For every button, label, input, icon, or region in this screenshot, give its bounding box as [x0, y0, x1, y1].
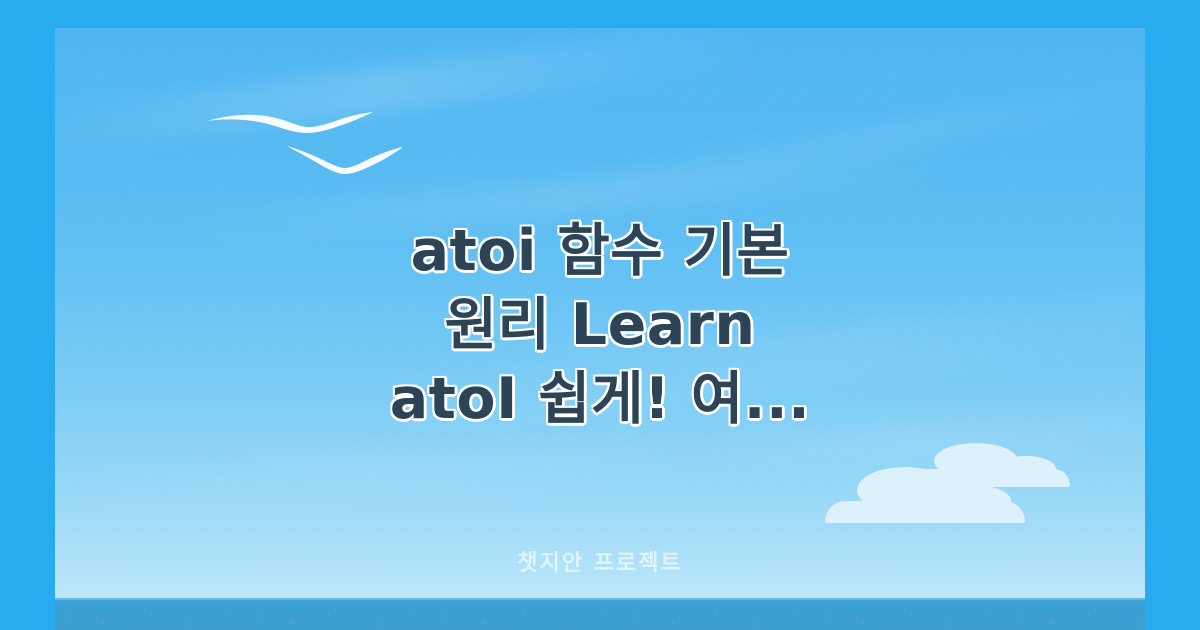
sea-horizon-band	[55, 598, 1145, 630]
background-scene: atoi 함수 기본 원리 Learn atoI 쉽게! 여... 챗지안 프로…	[55, 28, 1145, 630]
og-share-card: atoi 함수 기본 원리 Learn atoI 쉽게! 여... 챗지안 프로…	[0, 0, 1200, 630]
sky-gradient	[55, 28, 1145, 630]
sea-sparkle-texture	[55, 598, 1145, 630]
